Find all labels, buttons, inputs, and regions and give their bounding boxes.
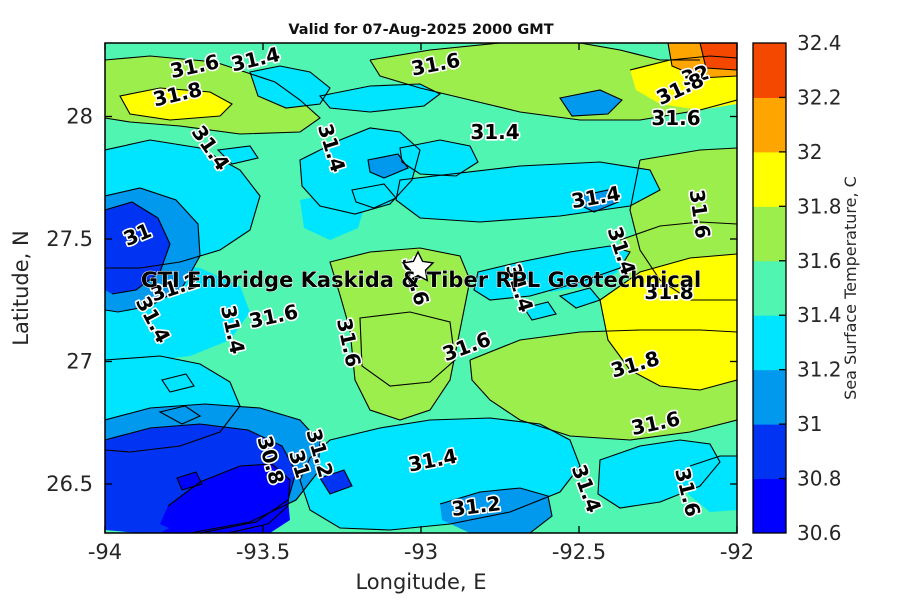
site-annotation-label: GTI Enbridge Kaskida & Tiber RPL Geotech… xyxy=(141,268,701,292)
colorbar-tick-label: 30.8 xyxy=(797,467,842,491)
colorbar-band xyxy=(753,152,786,207)
colorbar-tick-label: 31.4 xyxy=(797,303,842,327)
y-axis-tick-label: 27 xyxy=(66,350,93,374)
x-axis-tick-label: -92.5 xyxy=(552,540,606,564)
colorbar-title: Sea Surface Temperature, C xyxy=(841,176,860,400)
y-axis-title: Latitude, N xyxy=(9,230,33,346)
x-axis-title: Longitude, E xyxy=(355,570,486,594)
colorbar-tick-label: 32 xyxy=(797,140,822,164)
y-axis-tick-label: 27.5 xyxy=(46,227,93,251)
colorbar-band xyxy=(753,206,786,261)
colorbar-band xyxy=(753,315,786,370)
page-title: Valid for 07-Aug-2025 2000 GMT xyxy=(288,22,553,38)
contour-label: 31.4 xyxy=(470,120,519,144)
colorbar-band xyxy=(753,43,786,98)
y-axis-tick-label: 26.5 xyxy=(46,472,93,496)
x-axis-tick-label: -93 xyxy=(404,540,438,564)
colorbar-band xyxy=(753,261,786,316)
colorbar-band xyxy=(753,370,786,425)
colorbar-tick-label: 31.2 xyxy=(797,358,842,382)
colorbar-band xyxy=(753,97,786,152)
colorbar-band xyxy=(753,424,786,479)
colorbar-tick-label: 31.6 xyxy=(797,249,842,273)
colorbar-tick-label: 30.6 xyxy=(797,521,842,545)
contour-plot-area: 31.631.431.831.63231.831.631.431.431.431… xyxy=(105,42,737,533)
contour-label: 31.6 xyxy=(651,106,700,130)
colorbar-tick-label: 32.2 xyxy=(797,85,842,109)
colorbar-tick-label: 32.4 xyxy=(797,31,842,55)
y-axis-tick-label: 28 xyxy=(66,105,93,129)
x-axis-tick-label: -93.5 xyxy=(236,540,290,564)
colorbar-bands xyxy=(753,43,786,534)
x-axis-tick-label: -92 xyxy=(720,540,754,564)
sst-contour-figure: Valid for 07-Aug-2025 2000 GMT xyxy=(0,0,900,600)
x-axis-tick-label: -94 xyxy=(88,540,122,564)
colorbar-tick-label: 31 xyxy=(797,412,822,436)
colorbar-band xyxy=(753,479,786,534)
colorbar-tick-label: 31.8 xyxy=(797,194,842,218)
figure-canvas: Valid for 07-Aug-2025 2000 GMT xyxy=(0,0,900,600)
